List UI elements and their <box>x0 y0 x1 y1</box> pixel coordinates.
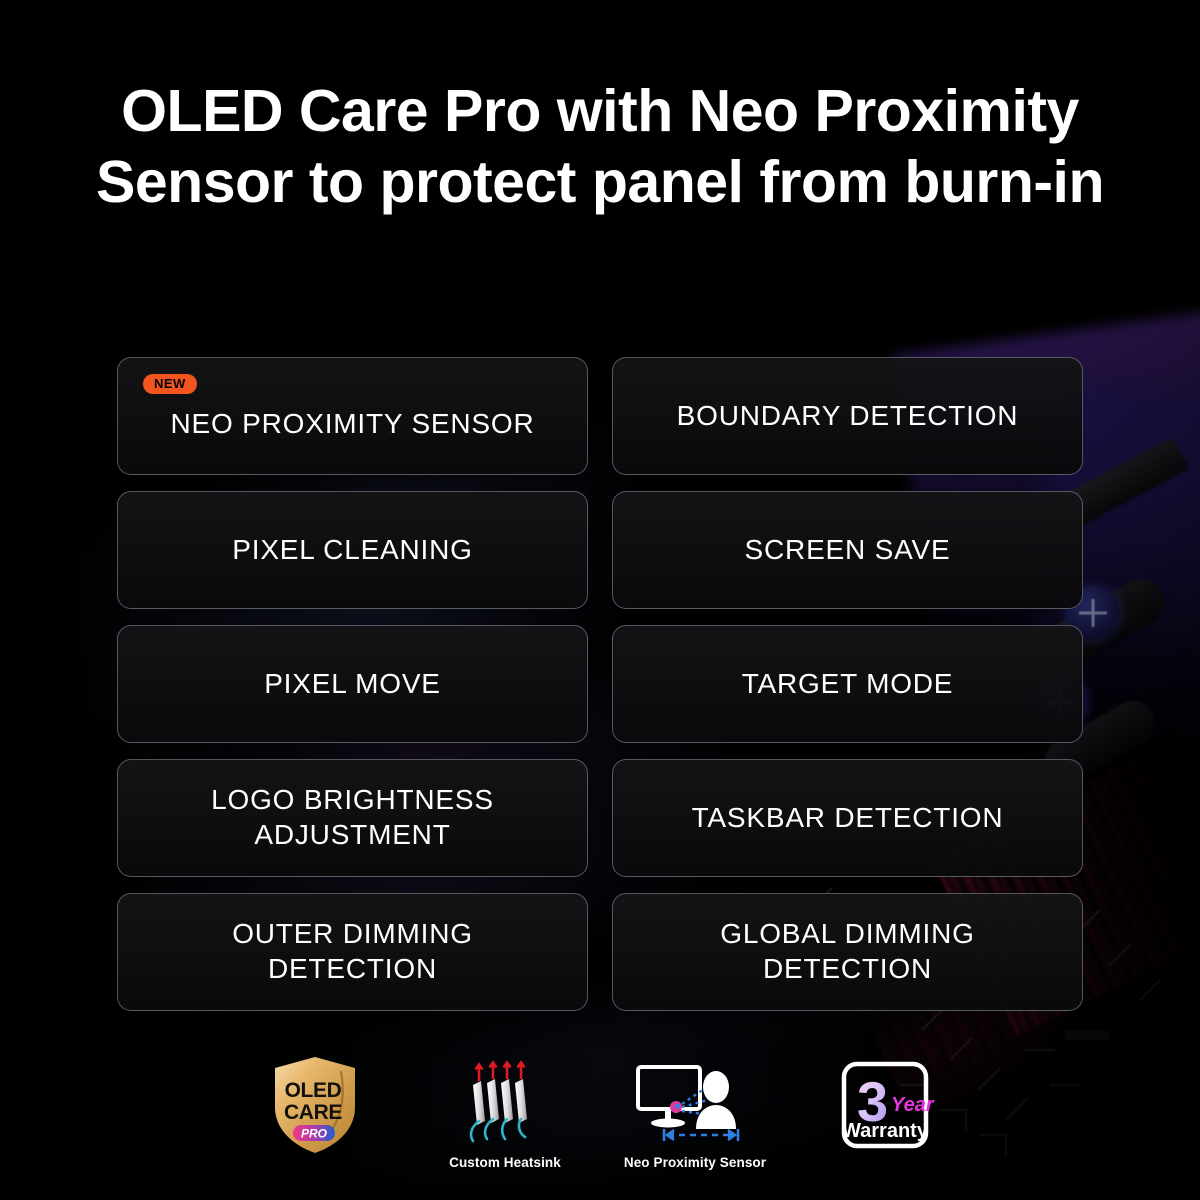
badge-oled-care-pro: OLED CARE PRO <box>220 1059 410 1170</box>
badge-caption: Custom Heatsink <box>449 1155 561 1170</box>
feature-card-label: BOUNDARY DETECTION <box>663 399 1033 434</box>
feature-card-global-dimming-detection[interactable]: GLOBAL DIMMING DETECTION <box>612 893 1083 1011</box>
feature-card-neo-proximity-sensor[interactable]: NEW NEO PROXIMITY SENSOR <box>117 357 588 475</box>
airflow-lines <box>471 1119 525 1141</box>
feature-card-label: OUTER DIMMING DETECTION <box>218 917 487 986</box>
feature-card-label: TARGET MODE <box>728 667 968 702</box>
feature-card-screen-save[interactable]: SCREEN SAVE <box>612 491 1083 609</box>
feature-card-label: TASKBAR DETECTION <box>678 801 1018 836</box>
warranty-unit: Year <box>891 1094 935 1116</box>
feature-card-boundary-detection[interactable]: BOUNDARY DETECTION <box>612 357 1083 475</box>
three-year-warranty-icon: 3 Year Warranty <box>835 1059 935 1151</box>
badge-caption: Neo Proximity Sensor <box>624 1155 766 1170</box>
badge-custom-heatsink: Custom Heatsink <box>410 1057 600 1170</box>
shield-line2: CARE <box>284 1101 342 1124</box>
feature-grid: NEW NEO PROXIMITY SENSOR BOUNDARY DETECT… <box>117 357 1083 1011</box>
badge-warranty: 3 Year Warranty <box>790 1059 980 1170</box>
feature-card-pixel-cleaning[interactable]: PIXEL CLEANING <box>117 491 588 609</box>
feature-card-label: PIXEL CLEANING <box>218 533 486 568</box>
feature-card-label: GLOBAL DIMMING DETECTION <box>706 917 988 986</box>
feature-card-outer-dimming-detection[interactable]: OUTER DIMMING DETECTION <box>117 893 588 1011</box>
warranty-term: Warranty <box>842 1120 929 1142</box>
feature-card-label: SCREEN SAVE <box>731 533 965 568</box>
shield-pro-pill: PRO <box>301 1127 328 1141</box>
feature-card-pixel-move[interactable]: PIXEL MOVE <box>117 625 588 743</box>
shield-line1: OLED <box>285 1079 342 1102</box>
oled-care-pro-shield-icon: OLED CARE PRO <box>269 1055 361 1155</box>
heat-arrows <box>476 1063 525 1082</box>
heatsink-fins <box>473 1079 527 1125</box>
distance-arrow <box>664 1129 738 1141</box>
neo-proximity-sensor-icon <box>630 1059 760 1147</box>
badge-row: OLED CARE PRO <box>0 1057 1200 1170</box>
feature-card-target-mode[interactable]: TARGET MODE <box>612 625 1083 743</box>
feature-card-label: PIXEL MOVE <box>250 667 455 702</box>
new-badge: NEW <box>143 374 197 394</box>
feature-card-logo-brightness-adjustment[interactable]: LOGO BRIGHTNESS ADJUSTMENT <box>117 759 588 877</box>
feature-card-label: NEO PROXIMITY SENSOR <box>157 407 549 442</box>
feature-card-label: LOGO BRIGHTNESS ADJUSTMENT <box>197 783 508 852</box>
feature-card-taskbar-detection[interactable]: TASKBAR DETECTION <box>612 759 1083 877</box>
page-title: OLED Care Pro with Neo Proximity Sensor … <box>0 76 1200 218</box>
monitor-icon <box>638 1067 700 1128</box>
heatsink-icon <box>459 1059 551 1147</box>
badge-neo-proximity-sensor: Neo Proximity Sensor <box>600 1057 790 1170</box>
